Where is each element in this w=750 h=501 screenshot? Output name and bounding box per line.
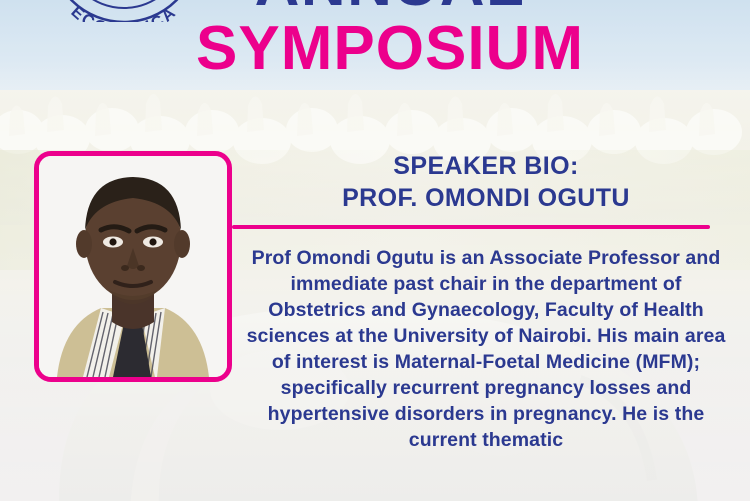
symposium-poster: ECOLOGICA ANNUAL SYMPOSIUM xyxy=(0,0,750,501)
speaker-photo-frame xyxy=(34,151,232,382)
prof-omondi-ogutu-portrait xyxy=(39,156,227,377)
bio-body-text: Prof Omondi Ogutu is an Associate Profes… xyxy=(246,245,726,453)
poster-headline: ANNUAL SYMPOSIUM xyxy=(0,0,750,82)
bio-divider-rule xyxy=(232,225,710,229)
bio-heading-line1: SPEAKER BIO: xyxy=(393,152,578,180)
headline-symposium: SYMPOSIUM xyxy=(30,16,750,82)
speaker-bio-heading: SPEAKER BIO: PROF. OMONDI OGUTU xyxy=(246,150,726,214)
speaker-bio-panel: SPEAKER BIO: PROF. OMONDI OGUTU Prof Omo… xyxy=(246,150,726,453)
bio-heading-line2: PROF. OMONDI OGUTU xyxy=(342,184,630,212)
speaker-bio-body: Prof Omondi Ogutu is an Associate Profes… xyxy=(246,245,726,453)
